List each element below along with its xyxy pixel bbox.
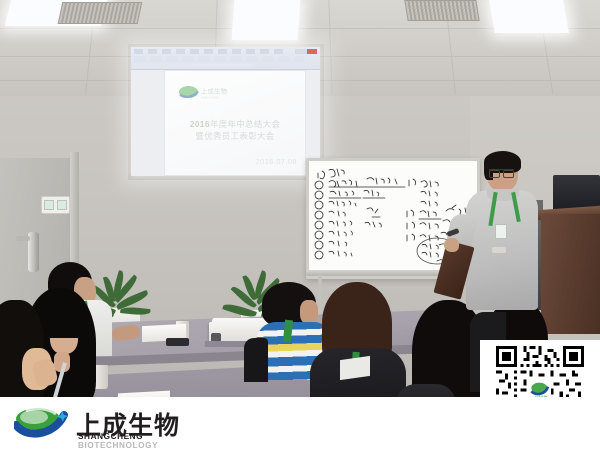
door-handle[interactable] xyxy=(28,232,39,272)
powerpoint-tabs[interactable] xyxy=(134,49,284,54)
slide-date: 2016.07.08 xyxy=(255,157,297,166)
shangcheng-logo-icon xyxy=(14,405,70,445)
glasses-icon xyxy=(489,169,514,177)
ceiling-vent-1 xyxy=(58,2,143,24)
brand-bar: 上成生物 SHANGCHENG BIOTECHNOLOGY xyxy=(0,397,600,450)
slide-title-year: 2016 xyxy=(190,119,210,129)
brand-en-bold: SHANGCHENG xyxy=(78,432,143,441)
light-switch-panel[interactable] xyxy=(41,196,70,214)
brand-name-en: SHANGCHENG BIOTECHNOLOGY xyxy=(78,432,190,450)
presenter-badge xyxy=(495,224,507,239)
attendee-bangs xyxy=(44,316,86,338)
powerpoint-chrome xyxy=(131,47,320,70)
powerpoint-ribbon[interactable] xyxy=(134,56,304,62)
brand-logo: 上成生物 SHANGCHENG BIOTECHNOLOGY xyxy=(14,403,190,443)
slide-title-line1: 年度年中总结大会 xyxy=(210,119,280,129)
window-controls[interactable] xyxy=(295,49,317,54)
slide-canvas: 上成生物 SHANGCHENG 2016年度年中总结大会 暨优秀员工表彰大会 2… xyxy=(164,70,306,176)
svg-text:SHANGCHENG: SHANGCHENG xyxy=(201,97,219,100)
ceiling-light-3 xyxy=(489,0,569,33)
podium xyxy=(541,214,600,334)
mobile-phone[interactable] xyxy=(166,338,189,346)
attendee-collar xyxy=(340,356,370,380)
light-switch-1[interactable] xyxy=(44,200,54,210)
svg-text:上成生物: 上成生物 xyxy=(201,87,228,96)
screenshot-root: 上成生物 SHANGCHENG 2016年度年中总结大会 暨优秀员工表彰大会 2… xyxy=(0,0,600,450)
chair-back xyxy=(244,338,268,382)
presenter-hand xyxy=(444,238,459,252)
attendee-ear-side xyxy=(300,300,318,324)
ceiling-light-2 xyxy=(232,0,301,40)
brand-en-light: BIOTECHNOLOGY xyxy=(78,441,158,450)
light-switch-2[interactable] xyxy=(57,200,67,210)
ceiling-vent-2 xyxy=(404,0,479,21)
slide-title: 2016年度年中总结大会 暨优秀员工表彰大会 xyxy=(165,118,305,142)
slide-logo-icon: 上成生物 SHANGCHENG xyxy=(177,85,239,102)
projection-screen: 上成生物 SHANGCHENG 2016年度年中总结大会 暨优秀员工表彰大会 2… xyxy=(131,47,320,176)
wristwatch xyxy=(492,247,506,253)
powerpoint-titlebar xyxy=(133,63,253,68)
slide-title-line2: 暨优秀员工表彰大会 xyxy=(165,130,305,142)
